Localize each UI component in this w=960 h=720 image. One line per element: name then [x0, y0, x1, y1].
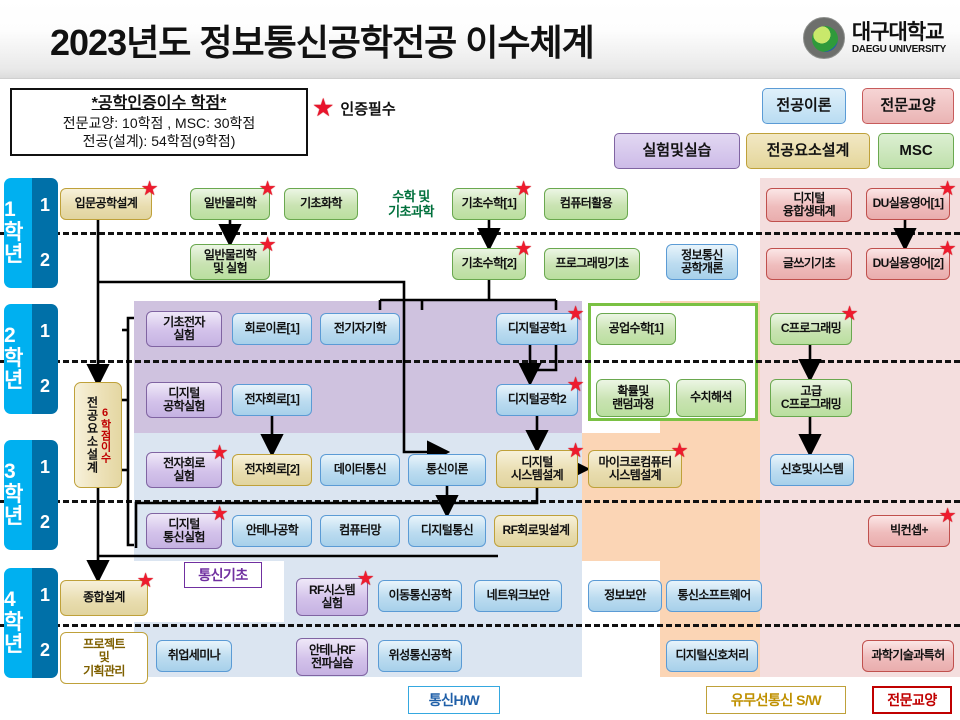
course-box[interactable]: 고급 C프로그래밍: [770, 379, 852, 417]
course-box[interactable]: 기초화학: [284, 188, 358, 220]
course-label: DU실용영어[1]: [873, 197, 944, 210]
design-track-label: 전공요소설계: [86, 396, 98, 474]
course-box[interactable]: 디지털공학2★: [496, 384, 578, 416]
course-box[interactable]: 디지털 통신실험★: [146, 513, 222, 549]
star-icon: ★: [567, 441, 584, 461]
semester-divider-3: [0, 500, 960, 503]
course-label: 디지털 통신실험: [163, 518, 205, 545]
credit-note-line-1: 전문교양: 10학점 , MSC: 30학점: [12, 115, 306, 133]
year-label-2: 2학년: [4, 304, 32, 414]
course-box[interactable]: 일반물리학★: [190, 188, 270, 220]
course-label: 전자회로 실험: [163, 457, 205, 484]
course-box[interactable]: 정보통신 공학개론: [666, 244, 738, 280]
legend-chip-major-design: 전공요소설계: [746, 133, 870, 169]
course-label: 위성통신공학: [389, 649, 452, 662]
course-box[interactable]: 안테나RF 전파실습: [296, 638, 368, 676]
course-box[interactable]: 데이터통신: [320, 454, 400, 486]
legend-chip-liberal-arts: 전문교양: [862, 88, 954, 124]
year-label-1: 1학년: [4, 178, 32, 288]
semester-4-1: 1: [40, 585, 50, 606]
course-box[interactable]: 빅컨셉+★: [868, 515, 950, 547]
course-label: 기초화학: [300, 197, 342, 210]
semester-3-1: 1: [40, 457, 50, 478]
star-icon: ★: [939, 506, 956, 526]
group-tag-wired-wireless-sw: 유무선통신 S/W: [706, 686, 846, 714]
year-block-4: 4학년 1 2: [4, 568, 58, 678]
accreditation-credit-note: *공학인증이수 학점* 전문교양: 10학점 , MSC: 30학점 전공(설계…: [10, 88, 308, 156]
course-label: 확률및 랜덤과정: [612, 385, 654, 412]
course-label: 일반물리학: [204, 197, 256, 210]
group-tag-liberal-arts: 전문교양: [872, 686, 952, 714]
course-label: 디지털 시스템설계: [511, 456, 563, 483]
course-box[interactable]: 신호및시스템: [770, 454, 854, 486]
course-label: 디지털공학1: [508, 322, 566, 335]
course-label: 마이크로컴퓨터 시스템설계: [598, 456, 671, 483]
course-box[interactable]: 정보보안: [588, 580, 662, 612]
course-label: 전자회로[1]: [245, 393, 300, 406]
design-track-box: 전공요소설계 6학점이수: [74, 382, 122, 488]
course-box[interactable]: 컴퓨터활용: [544, 188, 628, 220]
course-label: 정보보안: [604, 589, 646, 602]
course-box[interactable]: 전자회로[2]: [232, 454, 312, 486]
semester-2-2: 2: [40, 376, 50, 397]
course-label: 회로이론[1]: [245, 322, 300, 335]
legend-chip-lab-practice: 실험및실습: [614, 133, 740, 169]
semester-1-2: 2: [40, 250, 50, 271]
year-digit-2: 2학년: [4, 325, 32, 393]
course-label: RF시스템 실험: [309, 584, 355, 611]
semester-1-1: 1: [40, 195, 50, 216]
course-label: 정보통신 공학개론: [681, 249, 723, 276]
year-block-3: 3학년 1 2: [4, 440, 58, 550]
course-box[interactable]: 입문공학설계★: [60, 188, 152, 220]
course-label: 프로그래밍기초: [555, 257, 628, 270]
course-label: 네트워크보안: [487, 589, 550, 602]
course-box[interactable]: DU실용영어[2]★: [866, 248, 950, 280]
course-box[interactable]: 이동통신공학: [378, 580, 462, 612]
course-box[interactable]: 회로이론[1]: [232, 313, 312, 345]
course-box[interactable]: 과학기술과특허: [862, 640, 954, 672]
course-box[interactable]: 프로젝트 및 기획관리: [60, 632, 148, 684]
course-label: 컴퓨터망: [339, 524, 381, 537]
course-label: 취업세미나: [168, 649, 220, 662]
page-title: 2023년도 정보통신공학전공 이수체계: [50, 14, 594, 66]
legend-chip-msc: MSC: [878, 133, 954, 169]
credit-note-line-2: 전공(설계): 54학점(9학점): [12, 133, 306, 151]
course-label: 종합설계: [83, 591, 125, 604]
course-label: 디지털통신: [421, 524, 473, 537]
course-box[interactable]: 종합설계★: [60, 580, 148, 616]
star-icon: ★: [259, 235, 276, 255]
course-box[interactable]: 디지털공학1★: [496, 313, 578, 345]
course-box[interactable]: RF시스템 실험★: [296, 578, 368, 616]
course-label: DU실용영어[2]: [873, 257, 944, 270]
course-label: RF회로및설계: [503, 524, 570, 537]
course-label: 안테나공학: [246, 524, 298, 537]
star-icon: ★: [939, 179, 956, 199]
course-box[interactable]: 통신소프트웨어: [666, 580, 762, 612]
semester-column-1: 1 2: [32, 178, 58, 288]
star-icon: ★: [939, 239, 956, 259]
course-label: 고급 C프로그래밍: [781, 385, 841, 412]
field-label-math-basic-science: 수학 및 기초과학: [372, 190, 450, 220]
course-label: 디지털 공학실험: [163, 387, 205, 414]
star-icon: ★: [515, 179, 532, 199]
semester-4-2: 2: [40, 640, 50, 661]
star-icon: ★: [357, 569, 374, 589]
course-box[interactable]: 위성통신공학: [378, 640, 462, 672]
year-label-3: 3학년: [4, 440, 32, 550]
course-label: 기초수학[1]: [462, 197, 517, 210]
star-icon: ★: [515, 239, 532, 259]
semester-column-2: 1 2: [32, 304, 58, 414]
course-box[interactable]: 마이크로컴퓨터 시스템설계★: [588, 450, 682, 488]
course-box[interactable]: 컴퓨터망: [320, 515, 400, 547]
course-label: 입문공학설계: [75, 197, 138, 210]
course-box[interactable]: 프로그래밍기초: [544, 248, 640, 280]
course-box[interactable]: 취업세미나: [156, 640, 232, 672]
course-box[interactable]: 기초전자 실험: [146, 311, 222, 347]
star-icon: ★: [211, 443, 228, 463]
course-box[interactable]: 전기자기학: [320, 313, 400, 345]
daegu-university-seal-icon: [803, 17, 845, 59]
course-label: 글쓰기기초: [783, 257, 835, 270]
star-icon: ★: [841, 304, 858, 324]
course-label: 안테나RF 전파실습: [309, 644, 355, 671]
course-label: 전자회로[2]: [245, 463, 300, 476]
course-label: 프로젝트 및 기획관리: [83, 638, 125, 678]
university-name-ko: 대구대학교: [852, 22, 946, 43]
course-label: 수치해석: [690, 391, 732, 404]
star-icon: ★: [567, 375, 584, 395]
course-box[interactable]: C프로그래밍★: [770, 313, 852, 345]
star-icon: ★: [671, 441, 688, 461]
year-block-1: 1학년 1 2: [4, 178, 58, 288]
design-track-note: 6학점이수: [99, 407, 110, 463]
university-name-en: DAEGU UNIVERSITY: [852, 45, 946, 55]
course-box[interactable]: 안테나공학: [232, 515, 312, 547]
group-tag-communication-hw: 통신H/W: [408, 686, 500, 714]
year-label-4: 4학년: [4, 568, 32, 678]
year-digit-3: 3학년: [4, 461, 32, 529]
course-box[interactable]: DU실용영어[1]★: [866, 188, 950, 220]
course-box[interactable]: 수치해석: [676, 379, 746, 417]
course-box[interactable]: 디지털 시스템설계★: [496, 450, 578, 488]
course-box[interactable]: 전자회로[1]: [232, 384, 312, 416]
semester-divider-2: [0, 360, 960, 363]
semester-divider-1: [0, 232, 960, 235]
course-label: 디지털공학2: [508, 393, 566, 406]
course-label: 데이터통신: [334, 463, 386, 476]
university-logo: 대구대학교 DAEGU UNIVERSITY: [803, 17, 946, 59]
course-box[interactable]: 디지털 융합생태계: [766, 188, 852, 222]
course-box[interactable]: 글쓰기기초: [766, 248, 852, 280]
course-box[interactable]: RF회로및설계: [494, 515, 578, 547]
star-icon: ★: [137, 571, 154, 591]
course-label: 통신이론: [426, 463, 468, 476]
course-box[interactable]: 네트워크보안: [474, 580, 562, 612]
course-box[interactable]: 전자회로 실험★: [146, 452, 222, 488]
course-box[interactable]: 디지털 공학실험: [146, 382, 222, 418]
course-label: 기초전자 실험: [163, 316, 205, 343]
course-label: 과학기술과특허: [871, 649, 944, 662]
star-icon: ★: [259, 179, 276, 199]
star-legend-label: 인증필수: [340, 98, 395, 119]
course-label: 통신소프트웨어: [677, 589, 750, 602]
course-label: 디지털 융합생태계: [783, 192, 835, 219]
group-tag-communication-basics: 통신기초: [184, 562, 262, 588]
course-box[interactable]: 공업수학[1]: [596, 313, 676, 345]
star-icon: ★: [567, 304, 584, 324]
course-label: 일반물리학 및 실험: [204, 249, 256, 276]
course-box[interactable]: 디지털신호처리: [666, 640, 758, 672]
year-digit-4: 4학년: [4, 589, 32, 657]
course-label: 신호및시스템: [781, 463, 844, 476]
year-digit-1: 1학년: [4, 199, 32, 267]
semester-divider-4: [0, 624, 960, 627]
year-block-2: 2학년 1 2: [4, 304, 58, 414]
course-label: 기초수학[2]: [462, 257, 517, 270]
course-label: 디지털신호처리: [675, 649, 748, 662]
semester-2-1: 1: [40, 321, 50, 342]
course-label: C프로그래밍: [781, 322, 841, 335]
star-icon: ★: [312, 96, 334, 121]
semester-column-3: 1 2: [32, 440, 58, 550]
course-box[interactable]: 통신이론: [408, 454, 486, 486]
course-box[interactable]: 기초수학[1]★: [452, 188, 526, 220]
course-label: 이동통신공학: [389, 589, 452, 602]
course-box[interactable]: 확률및 랜덤과정: [596, 379, 670, 417]
semester-3-2: 2: [40, 512, 50, 533]
course-label: 컴퓨터활용: [560, 197, 612, 210]
page-header: 2023년도 정보통신공학전공 이수체계 대구대학교 DAEGU UNIVERS…: [0, 0, 960, 79]
course-box[interactable]: 디지털통신: [408, 515, 486, 547]
star-legend: ★ 인증필수: [312, 96, 396, 121]
course-label: 빅컨셉+: [890, 524, 928, 537]
star-icon: ★: [141, 179, 158, 199]
credit-note-title: *공학인증이수 학점*: [12, 93, 306, 115]
star-icon: ★: [211, 504, 228, 524]
legend-chip-major-theory: 전공이론: [762, 88, 846, 124]
course-label: 공업수학[1]: [609, 322, 664, 335]
course-box[interactable]: 기초수학[2]★: [452, 248, 526, 280]
semester-column-4: 1 2: [32, 568, 58, 678]
course-label: 전기자기학: [334, 322, 386, 335]
course-box[interactable]: 일반물리학 및 실험★: [190, 244, 270, 280]
